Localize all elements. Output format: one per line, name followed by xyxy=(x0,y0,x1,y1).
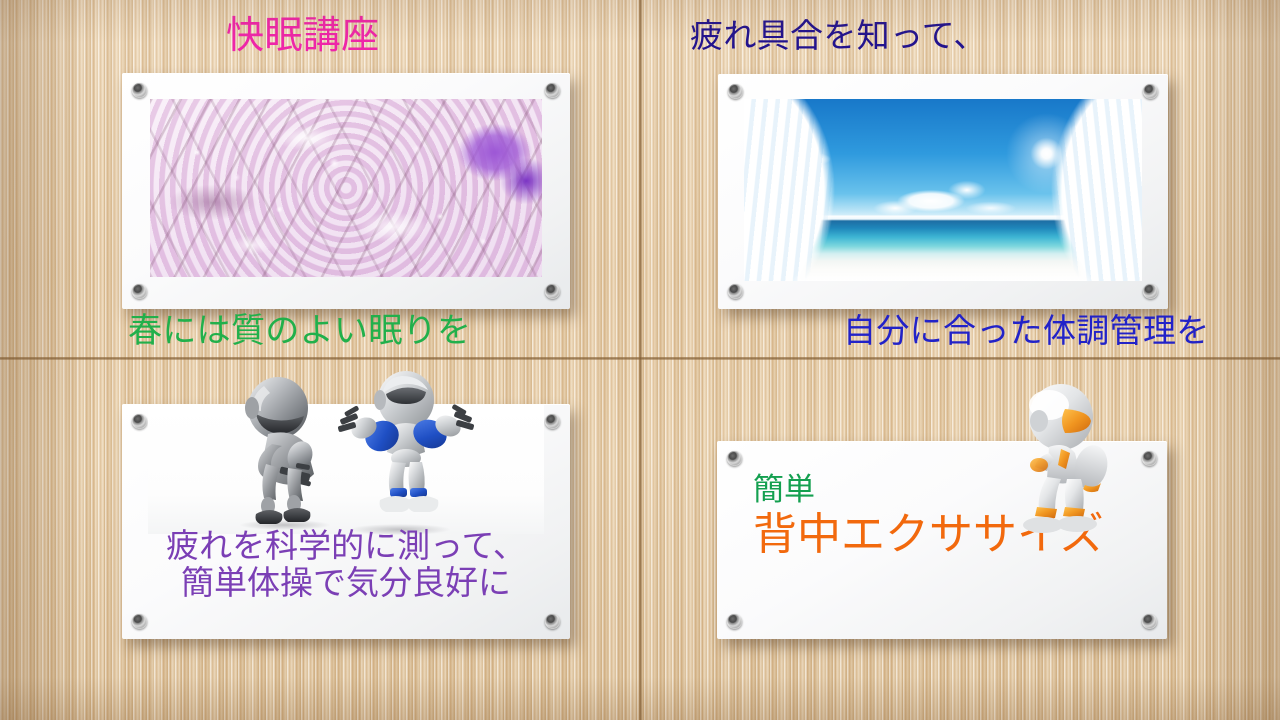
beach-sky-curtain-photo xyxy=(744,99,1142,281)
screw-icon xyxy=(1143,284,1158,299)
slide-canvas: 快眠講座 春には質のよい眠りを 疲れ具合を知って、 自分に合った体調管理を xyxy=(0,0,1280,720)
screw-icon xyxy=(727,451,742,466)
robot-stretching-icon xyxy=(330,364,482,534)
screw-icon xyxy=(132,614,147,629)
screw-icon xyxy=(728,84,743,99)
plaque-robots-exercise: 疲れを科学的に測って、 簡単体操で気分良好に xyxy=(122,404,570,639)
screw-icon xyxy=(1143,84,1158,99)
screw-icon xyxy=(132,83,147,98)
robot-orange-visor-icon xyxy=(999,375,1139,541)
text-line-1: 疲れを科学的に測って、 xyxy=(122,528,570,565)
screw-icon xyxy=(132,284,147,299)
cherry-blossom-photo xyxy=(150,99,542,277)
robot-bending-icon xyxy=(222,368,344,534)
caption-spring-sleep: 春には質のよい眠りを xyxy=(128,313,471,349)
screw-icon xyxy=(132,414,147,429)
heading-fatigue-level: 疲れ具合を知って、 xyxy=(690,19,987,54)
plaque-cherry-blossom xyxy=(122,73,570,309)
screw-icon xyxy=(545,414,560,429)
heading-kaimin-kouza: 快眠講座 xyxy=(226,16,380,56)
curtain-right-decoration xyxy=(1019,99,1142,281)
curtain-left-decoration xyxy=(744,99,867,281)
screw-icon xyxy=(1142,614,1157,629)
screw-icon xyxy=(728,284,743,299)
caption-health-management: 自分に合った体調管理を xyxy=(843,314,1210,349)
plaque-beach-sky xyxy=(718,74,1168,309)
screw-icon xyxy=(727,614,742,629)
plaque-back-exercise: 簡単 背中エクササイズ xyxy=(717,441,1167,639)
screw-icon xyxy=(545,284,560,299)
screw-icon xyxy=(1142,451,1157,466)
text-line-2: 簡単体操で気分良好に xyxy=(122,565,570,602)
screw-icon xyxy=(545,614,560,629)
screw-icon xyxy=(545,83,560,98)
quadrant-divider-vertical xyxy=(639,0,642,720)
plaque-text-measure-fatigue: 疲れを科学的に測って、 簡単体操で気分良好に xyxy=(122,528,570,602)
